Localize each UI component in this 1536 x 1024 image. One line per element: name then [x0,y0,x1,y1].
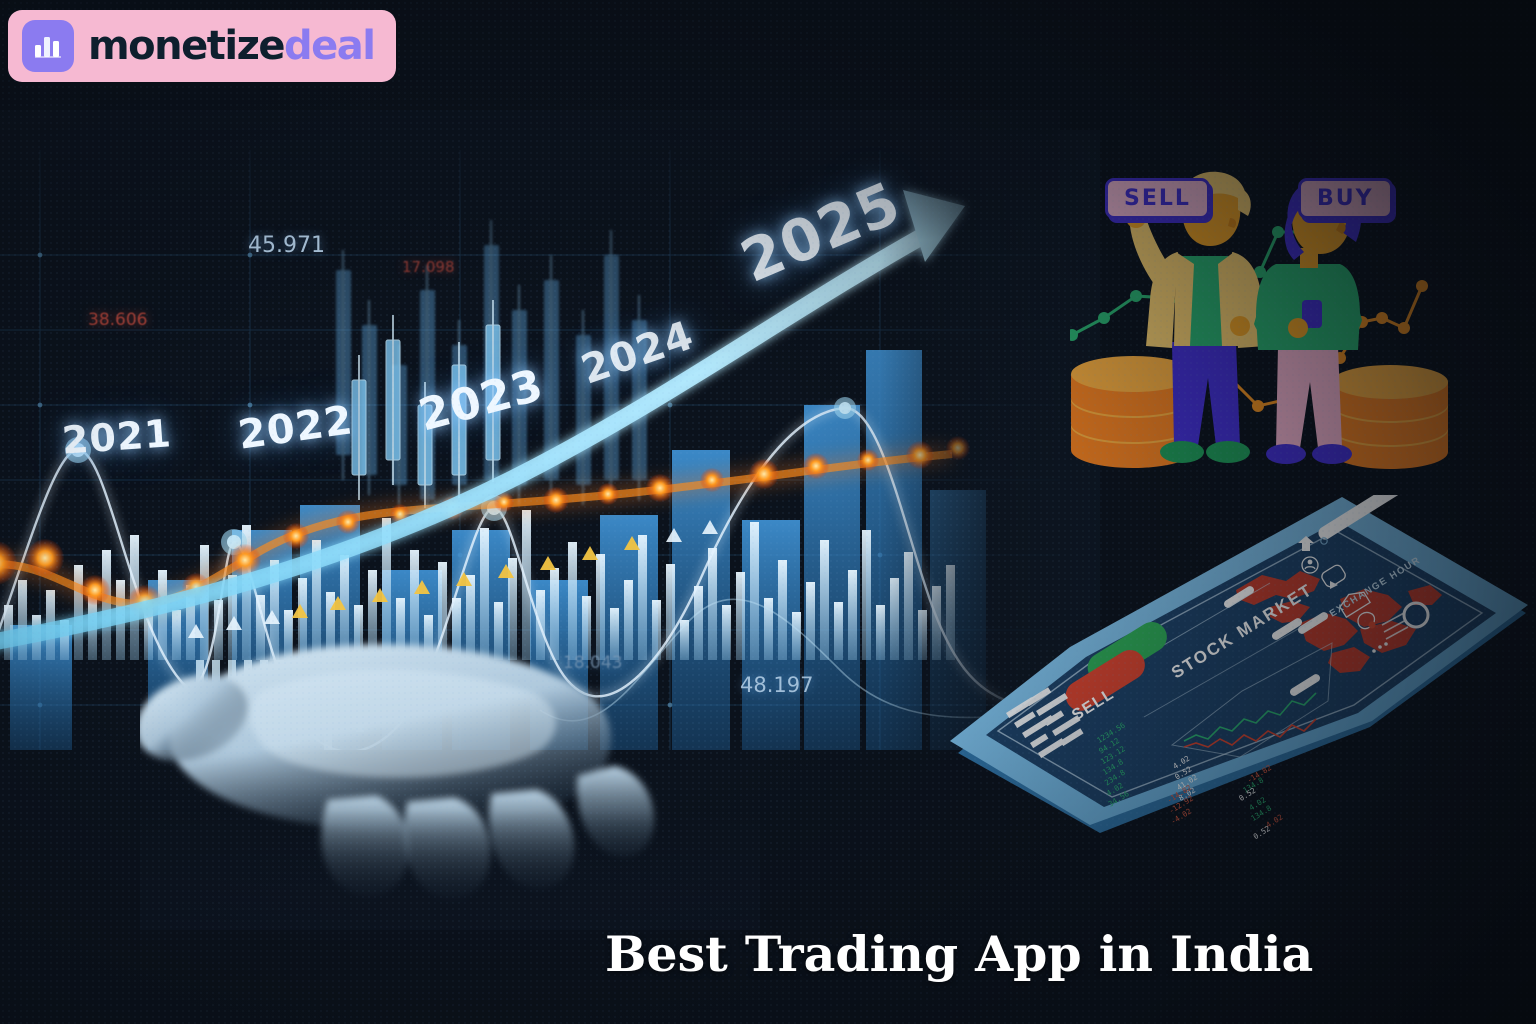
hero-banner: 2021 2022 2023 2024 2025 45.971 38.606 1… [0,0,1536,1024]
brand-name-part1: monetize [88,23,284,69]
open-hand-illustration [140,600,760,930]
chart-year-label-2021: 2021 [61,411,174,463]
bar-chart-icon [22,20,74,72]
chart-value-label-45971: 45.971 [248,233,325,258]
chart-value-label-38606: 38.606 [88,310,147,330]
brand-name-part2: deal [284,23,374,69]
buy-badge[interactable]: BUY [1298,178,1393,219]
brand-wordmark: monetizedeal [88,26,374,66]
chart-value-label-17098: 17.098 [402,258,455,276]
sell-badge[interactable]: SELL [1105,178,1210,219]
stock-market-phone-mockup: STOCK MARKET EXCHANGE HOUR [940,495,1536,855]
brand-logo[interactable]: monetizedeal [8,10,396,82]
page-title: Best Trading App in India [605,925,1313,983]
